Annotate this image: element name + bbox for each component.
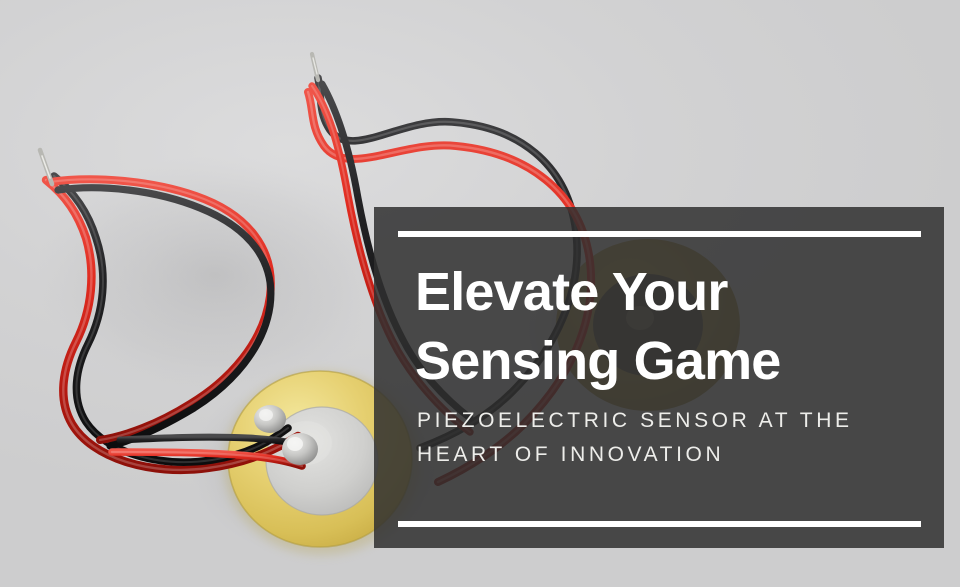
divider-top: [398, 231, 921, 237]
divider-bottom: [398, 521, 921, 527]
subheadline: PIEZOELECTRIC SENSOR AT THE HEART OF INN…: [417, 404, 917, 472]
headline: Elevate Your Sensing Game: [415, 258, 935, 396]
banner-image: Elevate Your Sensing Game PIEZOELECTRIC …: [0, 0, 960, 587]
